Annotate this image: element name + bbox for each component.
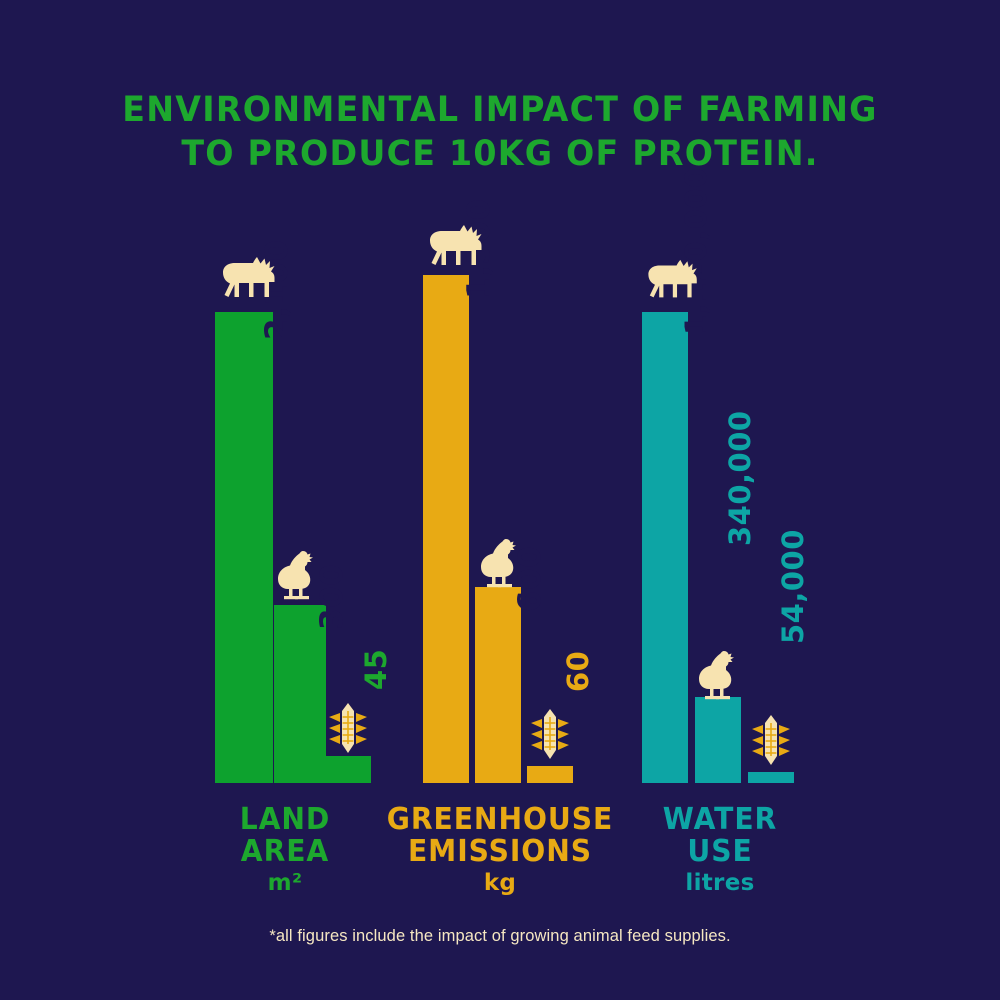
category-name-line-1: WATER [635, 804, 804, 836]
bar-chart: 2,100 300 45 [0, 0, 1000, 1000]
footnote: *all figures include the impact of growi… [0, 927, 1000, 946]
category-name-line-2: USE [635, 836, 804, 868]
category-name-line-2: EMISSIONS [378, 836, 622, 868]
category-name-line-1: LAND [210, 804, 360, 836]
corn-icon [527, 707, 573, 761]
bar-land-beef[interactable]: 2,100 [215, 312, 273, 783]
bar-water-beef[interactable]: 1,120,000 [642, 312, 688, 783]
category-unit: kg [370, 868, 630, 898]
bar-value-ghg-grain: 60 [561, 651, 595, 692]
category-unit: litres [630, 868, 810, 898]
bar-value-water-grain: 54,000 [776, 529, 810, 644]
category-label-land-area: LAND AREA m² [205, 804, 365, 898]
bar-ghg-chicken[interactable]: 600 [475, 587, 521, 783]
bar-ghg-grain[interactable]: 60 [527, 766, 573, 783]
chicken-icon [479, 536, 519, 588]
cow-icon [213, 251, 279, 307]
category-label-greenhouse-emissions: GREENHOUSE EMISSIONS kg [370, 804, 630, 898]
cow-icon [639, 254, 701, 307]
chicken-icon [697, 648, 737, 700]
corn-icon [325, 701, 371, 755]
chicken-icon [276, 548, 316, 600]
category-name-line-2: AREA [210, 836, 360, 868]
category-unit: m² [205, 868, 365, 898]
corn-icon [748, 713, 794, 767]
cow-icon [420, 219, 486, 275]
bar-water-grain[interactable]: 54,000 [748, 772, 794, 783]
bar-land-grain[interactable]: 45 [325, 756, 371, 783]
bar-water-chicken[interactable]: 340,000 [695, 697, 741, 783]
bar-value-water-chicken: 340,000 [723, 410, 757, 546]
bar-ghg-beef[interactable]: 1,500 [423, 275, 469, 783]
category-label-water-use: WATER USE litres [630, 804, 810, 898]
bar-value-land-grain: 45 [359, 649, 393, 690]
bar-land-chicken[interactable]: 300 [274, 605, 326, 783]
bar-value-land-chicken: 300 [314, 564, 350, 630]
category-name-line-1: GREENHOUSE [378, 804, 622, 836]
bar-value-water-beef: 1,120,000 [679, 167, 713, 335]
